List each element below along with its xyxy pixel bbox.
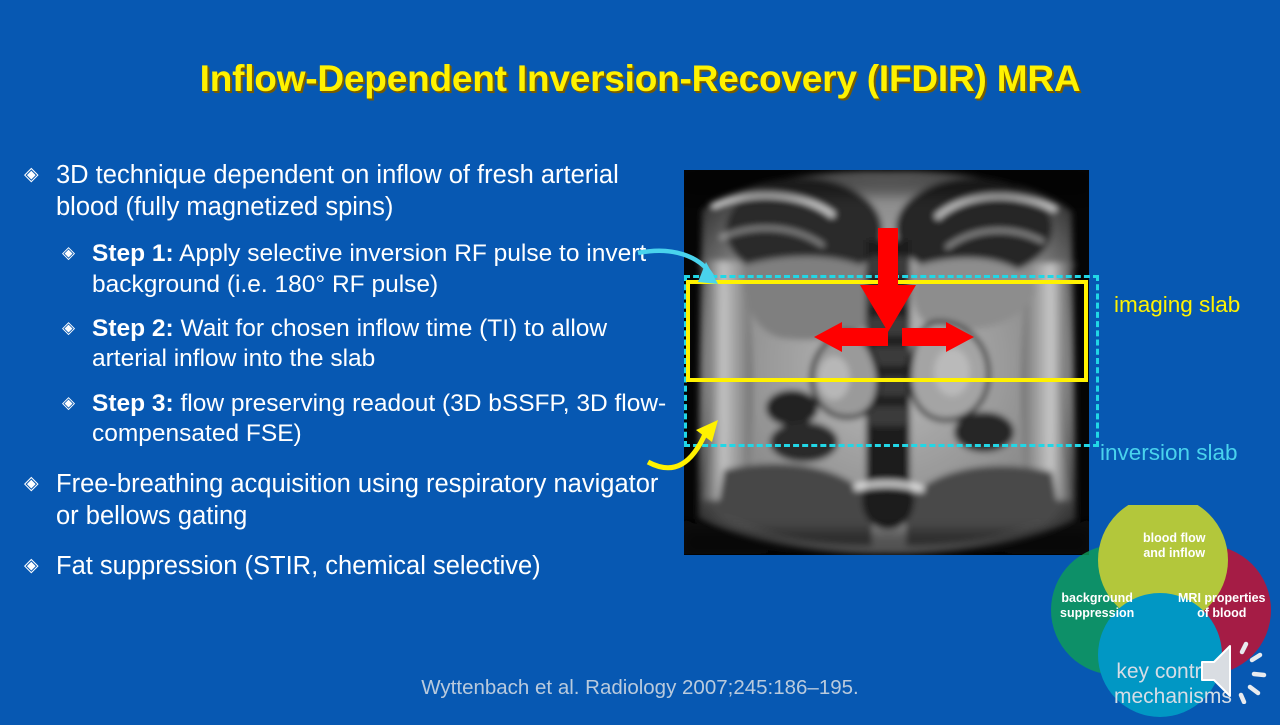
venn-label-blood-flow: blood flow and inflow (1143, 531, 1205, 561)
diamond-bullet-icon: ◈ (24, 469, 56, 496)
list-item: ◈ 3D technique dependent on inflow of fr… (24, 160, 684, 223)
list-item: ◈ Step 2: Wait for chosen inflow time (T… (24, 314, 684, 375)
diamond-bullet-icon: ◈ (62, 389, 92, 414)
diamond-bullet-icon: ◈ (24, 160, 56, 187)
list-item-text: Step 2: Wait for chosen inflow time (TI)… (92, 314, 684, 375)
list-item: ◈ Fat suppression (STIR, chemical select… (24, 551, 684, 583)
imaging-slab-box (686, 280, 1088, 382)
list-item-text: Fat suppression (STIR, chemical selectiv… (56, 551, 684, 583)
diamond-bullet-icon: ◈ (62, 314, 92, 339)
diamond-bullet-icon: ◈ (24, 551, 56, 578)
venn-label-background-suppression: background suppression (1060, 591, 1134, 621)
speaker-icon[interactable] (1196, 638, 1270, 704)
venn-label-mri-properties: MRI properties of blood (1178, 591, 1266, 621)
list-item: ◈ Free-breathing acquisition using respi… (24, 469, 684, 532)
list-item-text: Step 3: flow preserving readout (3D bSSF… (92, 389, 684, 450)
step-description: flow preserving readout (3D bSSFP, 3D fl… (92, 390, 666, 447)
slide: Inflow-Dependent Inversion-Recovery (IFD… (0, 0, 1280, 720)
imaging-slab-label: imaging slab (1114, 292, 1240, 318)
step-label: Step 1: (92, 240, 174, 267)
list-item-text: 3D technique dependent on inflow of fres… (56, 160, 684, 223)
list-item-text: Free-breathing acquisition using respira… (56, 469, 684, 532)
inversion-slab-label: inversion slab (1100, 440, 1238, 466)
diamond-bullet-icon: ◈ (62, 239, 92, 264)
step-label: Step 3: (92, 390, 174, 417)
list-item-text: Step 1: Apply selective inversion RF pul… (92, 239, 684, 300)
list-item: ◈ Step 3: flow preserving readout (3D bS… (24, 389, 684, 450)
step-description: Apply selective inversion RF pulse to in… (92, 240, 646, 297)
list-item: ◈ Step 1: Apply selective inversion RF p… (24, 239, 684, 300)
bullet-list: ◈ 3D technique dependent on inflow of fr… (24, 160, 684, 592)
page-title: Inflow-Dependent Inversion-Recovery (IFD… (0, 58, 1280, 100)
step-label: Step 2: (92, 315, 174, 342)
